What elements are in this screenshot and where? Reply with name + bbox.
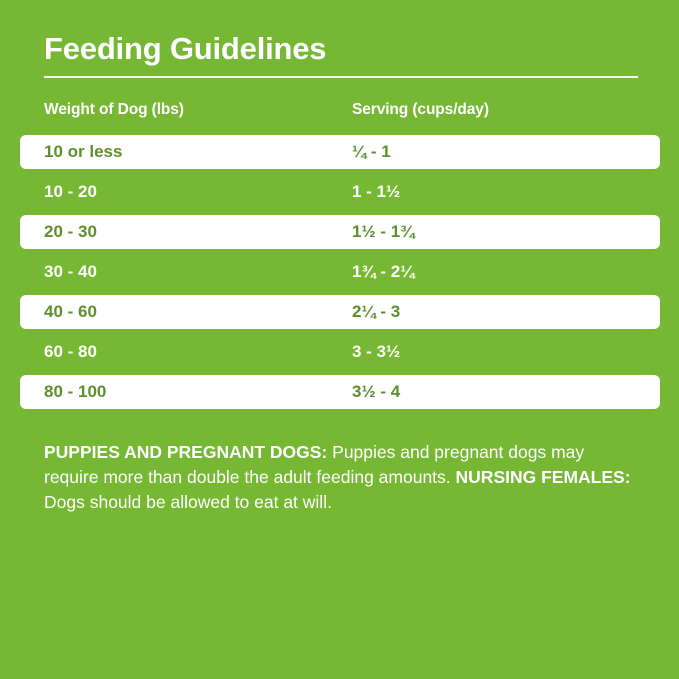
cell-serving: 1¾ - 2¼ <box>352 255 414 289</box>
table-row: 30 - 401¾ - 2¼ <box>0 255 679 289</box>
page-title: Feeding Guidelines <box>44 32 326 66</box>
row-background <box>20 255 660 289</box>
cell-weight: 60 - 80 <box>44 335 97 369</box>
column-header-serving: Serving (cups/day) <box>352 101 489 119</box>
cell-weight: 10 or less <box>44 135 122 169</box>
column-header-weight: Weight of Dog (lbs) <box>44 101 184 119</box>
table-row: 60 - 803 - 3½ <box>0 335 679 369</box>
table-row: 80 - 1003½ - 4 <box>0 375 679 409</box>
table-row: 10 or less¼ - 1 <box>0 135 679 169</box>
footnote-label-nursing: NURSING FEMALES: <box>456 467 631 487</box>
table-row: 20 - 301½ - 1¾ <box>0 215 679 249</box>
cell-weight: 30 - 40 <box>44 255 97 289</box>
cell-serving: 1 - 1½ <box>352 175 400 209</box>
feeding-guidelines-panel: Feeding Guidelines Weight of Dog (lbs) S… <box>0 0 679 679</box>
row-background <box>20 175 660 209</box>
cell-weight: 80 - 100 <box>44 375 106 409</box>
row-background <box>20 375 660 409</box>
cell-weight: 20 - 30 <box>44 215 97 249</box>
cell-serving: 2¼ - 3 <box>352 295 400 329</box>
cell-serving: ¼ - 1 <box>352 135 391 169</box>
row-background <box>20 215 660 249</box>
footnote-text-nursing: Dogs should be allowed to eat at will. <box>44 492 332 512</box>
table-row: 40 - 602¼ - 3 <box>0 295 679 329</box>
table-header-row: Weight of Dog (lbs) Serving (cups/day) <box>0 101 679 125</box>
cell-weight: 40 - 60 <box>44 295 97 329</box>
cell-weight: 10 - 20 <box>44 175 97 209</box>
cell-serving: 3 - 3½ <box>352 335 400 369</box>
table-row: 10 - 201 - 1½ <box>0 175 679 209</box>
title-divider <box>44 76 638 78</box>
row-background <box>20 335 660 369</box>
footnote: PUPPIES AND PREGNANT DOGS: Puppies and p… <box>44 440 642 515</box>
row-background <box>20 295 660 329</box>
cell-serving: 3½ - 4 <box>352 375 400 409</box>
cell-serving: 1½ - 1¾ <box>352 215 414 249</box>
footnote-label-puppies: PUPPIES AND PREGNANT DOGS: <box>44 442 327 462</box>
feeding-table: 10 or less¼ - 110 - 201 - 1½20 - 301½ - … <box>0 135 679 415</box>
